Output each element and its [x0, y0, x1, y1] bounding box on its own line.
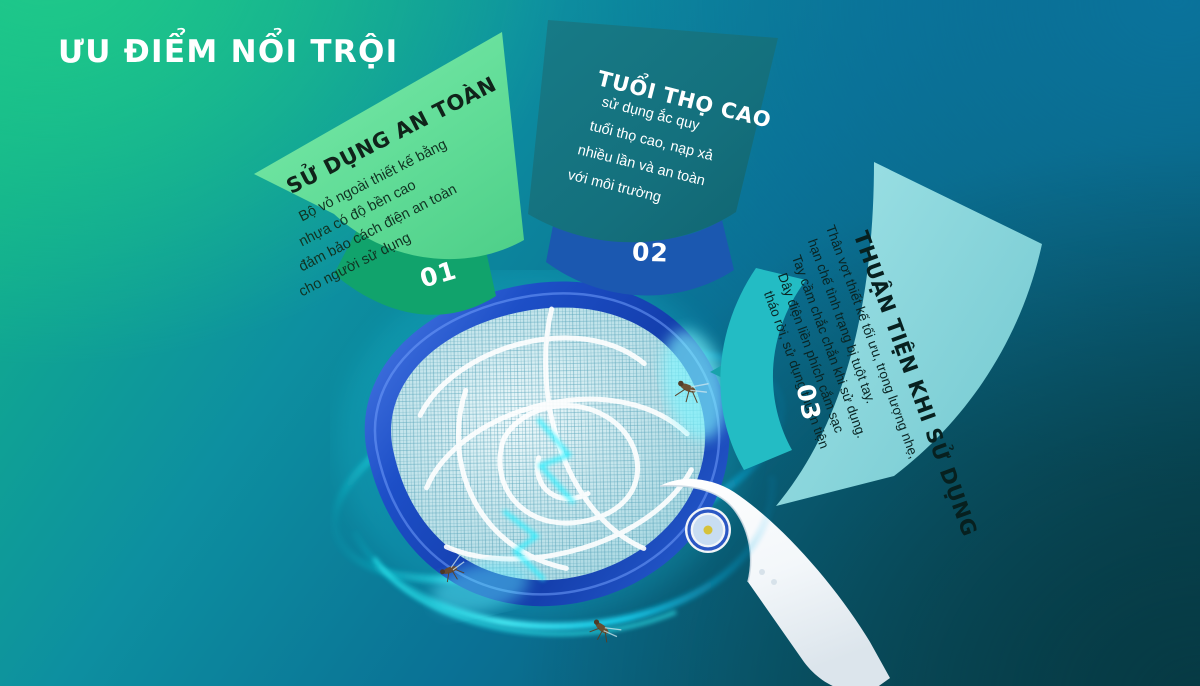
feature-card-03[interactable]: THUẬN TIỆN KHI SỬ DỤNG Thân vợt thiết kế…: [742, 160, 1052, 540]
card-number: 02: [632, 237, 670, 267]
card-body-shape: [528, 20, 778, 242]
feature-card-01[interactable]: SỬ DỤNG AN TOÀN Bộ vỏ ngoài thiết kế bằn…: [238, 28, 538, 328]
led-indicator: [704, 526, 713, 535]
